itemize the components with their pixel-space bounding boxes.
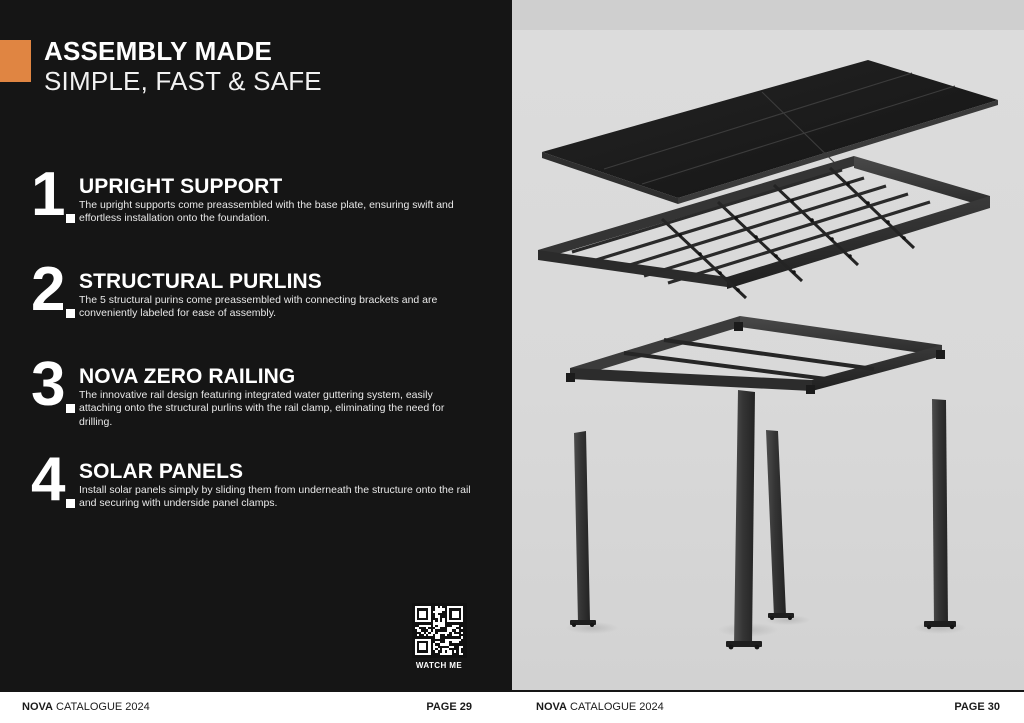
footer-brand-rest: CATALOGUE 2024: [53, 701, 150, 713]
step-number: 2: [31, 259, 63, 321]
step-number: 1: [31, 164, 63, 226]
assembly-step-3: 3 NOVA ZERO RAILING The innovative rail …: [0, 362, 512, 457]
upright-post: [924, 399, 956, 629]
step-content: STRUCTURAL PURLINS The 5 structural puri…: [79, 271, 499, 321]
footer-brand-rest: CATALOGUE 2024: [567, 701, 664, 713]
step-description: The innovative rail design featuring int…: [79, 389, 475, 429]
title-line-secondary: SIMPLE, FAST & SAFE: [44, 68, 484, 94]
step-content: SOLAR PANELS Install solar panels simply…: [79, 461, 499, 511]
ground-shadows: [566, 615, 966, 637]
left-page: ASSEMBLY MADE SIMPLE, FAST & SAFE 1 UPRI…: [0, 0, 512, 690]
footer-brand-bold: NOVA: [536, 701, 567, 713]
footer-brand-bold: NOVA: [22, 701, 53, 713]
assembly-step-2: 2 STRUCTURAL PURLINS The 5 structural pu…: [0, 267, 512, 362]
page-title: ASSEMBLY MADE SIMPLE, FAST & SAFE: [44, 38, 484, 94]
upright-post: [726, 390, 762, 649]
qr-code-icon[interactable]: [412, 603, 467, 658]
step-heading: SOLAR PANELS: [79, 461, 499, 482]
assembly-step-4: 4 SOLAR PANELS Install solar panels simp…: [0, 457, 512, 552]
catalogue-spread: ASSEMBLY MADE SIMPLE, FAST & SAFE 1 UPRI…: [0, 0, 1024, 723]
right-page: [512, 0, 1024, 690]
step-number-period: [66, 214, 75, 223]
title-line-primary: ASSEMBLY MADE: [44, 38, 484, 64]
footer-brand: NOVA CATALOGUE 2024: [536, 701, 664, 713]
step-heading: NOVA ZERO RAILING: [79, 366, 499, 387]
upright-post: [570, 431, 596, 627]
structural-purlins-frame: [566, 316, 945, 394]
footer-brand: NOVA CATALOGUE 2024: [22, 701, 150, 713]
step-number-period: [66, 499, 75, 508]
step-description: Install solar panels simply by sliding t…: [79, 484, 475, 511]
step-number: 3: [31, 354, 63, 416]
step-description: The 5 structural purins come preassemble…: [79, 294, 475, 321]
step-number-period: [66, 309, 75, 318]
footer-left-page: NOVA CATALOGUE 2024 PAGE 29: [0, 690, 512, 723]
upright-support-posts: [570, 390, 956, 649]
watch-me-qr[interactable]: WATCH ME: [408, 603, 470, 670]
step-content: NOVA ZERO RAILING The innovative rail de…: [79, 366, 499, 429]
accent-block: [0, 40, 31, 82]
qr-label: WATCH ME: [408, 661, 470, 670]
step-heading: UPRIGHT SUPPORT: [79, 176, 499, 197]
footer-right-page: NOVA CATALOGUE 2024 PAGE 30: [512, 690, 1024, 723]
footer-page-number: PAGE 30: [954, 701, 1000, 713]
exploded-pergola-render: [512, 0, 1024, 690]
step-number-period: [66, 404, 75, 413]
assembly-steps-list: 1 UPRIGHT SUPPORT The upright supports c…: [0, 172, 512, 552]
upright-post: [766, 430, 794, 620]
step-content: UPRIGHT SUPPORT The upright supports com…: [79, 176, 499, 226]
step-description: The upright supports come preassembled w…: [79, 199, 475, 226]
assembly-step-1: 1 UPRIGHT SUPPORT The upright supports c…: [0, 172, 512, 267]
step-heading: STRUCTURAL PURLINS: [79, 271, 499, 292]
step-number: 4: [31, 449, 63, 511]
footer-page-number: PAGE 29: [426, 701, 472, 713]
